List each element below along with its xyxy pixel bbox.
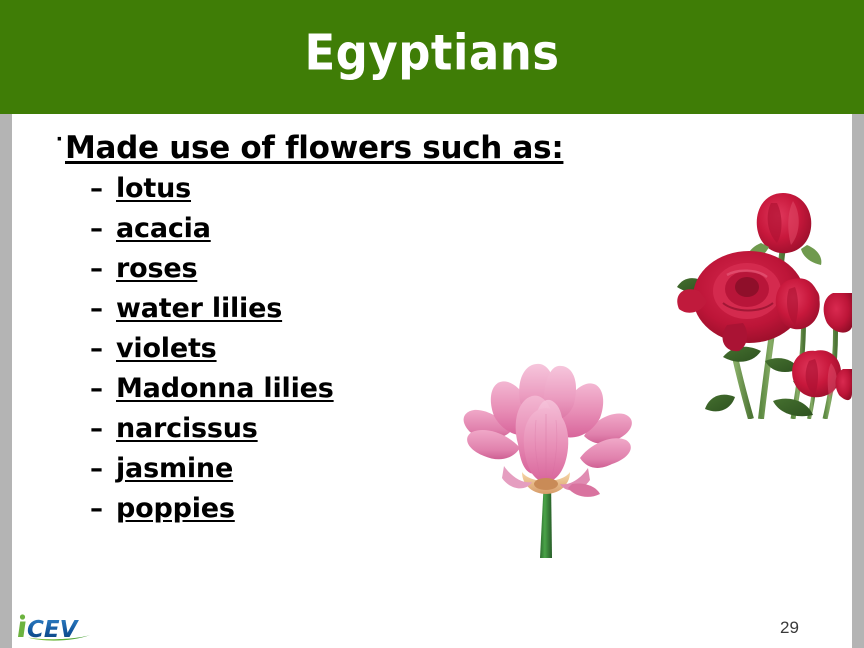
list-item-label: poppies (116, 492, 235, 526)
list-item-label: narcissus (116, 412, 258, 446)
dash-icon: – (90, 412, 116, 446)
list-item-label: roses (116, 252, 197, 286)
dash-icon: – (90, 372, 116, 406)
list-item: – water lilies (90, 292, 334, 332)
title-band: Egyptians (0, 0, 864, 114)
dash-icon: – (90, 292, 116, 326)
page-number: 29 (780, 618, 820, 638)
icev-logo: CEV (16, 612, 98, 642)
heading-bullet: · Made use of flowers such as: (56, 128, 563, 168)
list-item-label: violets (116, 332, 217, 366)
list-item: – poppies (90, 492, 334, 532)
dash-icon: – (90, 452, 116, 486)
dash-icon: – (90, 212, 116, 246)
list-item: – violets (90, 332, 334, 372)
list-item: – roses (90, 252, 334, 292)
slide: Egyptians · Made use of flowers such as:… (0, 0, 864, 648)
page-title: Egyptians (0, 23, 864, 83)
list-item-label: Madonna lilies (116, 372, 334, 406)
list-item: – narcissus (90, 412, 334, 452)
list-item-label: lotus (116, 172, 191, 206)
flower-list: – lotus – acacia – roses – water lilies … (90, 172, 334, 532)
list-item: – Madonna lilies (90, 372, 334, 412)
right-rail (852, 114, 864, 648)
dash-icon: – (90, 172, 116, 206)
heading-label: Made use of flowers such as: (65, 128, 563, 168)
svg-text:CEV: CEV (27, 617, 80, 642)
dash-icon: – (90, 492, 116, 526)
bullet-dot-icon: · (56, 121, 64, 159)
list-item: – lotus (90, 172, 334, 212)
list-item: – jasmine (90, 452, 334, 492)
list-item-label: jasmine (116, 452, 233, 486)
dash-icon: – (90, 332, 116, 366)
list-item: – acacia (90, 212, 334, 252)
list-item-label: water lilies (116, 292, 282, 326)
lotus-photo (460, 360, 635, 558)
roses-photo (665, 175, 852, 419)
left-rail (0, 114, 12, 648)
dash-icon: – (90, 252, 116, 286)
list-item-label: acacia (116, 212, 211, 246)
